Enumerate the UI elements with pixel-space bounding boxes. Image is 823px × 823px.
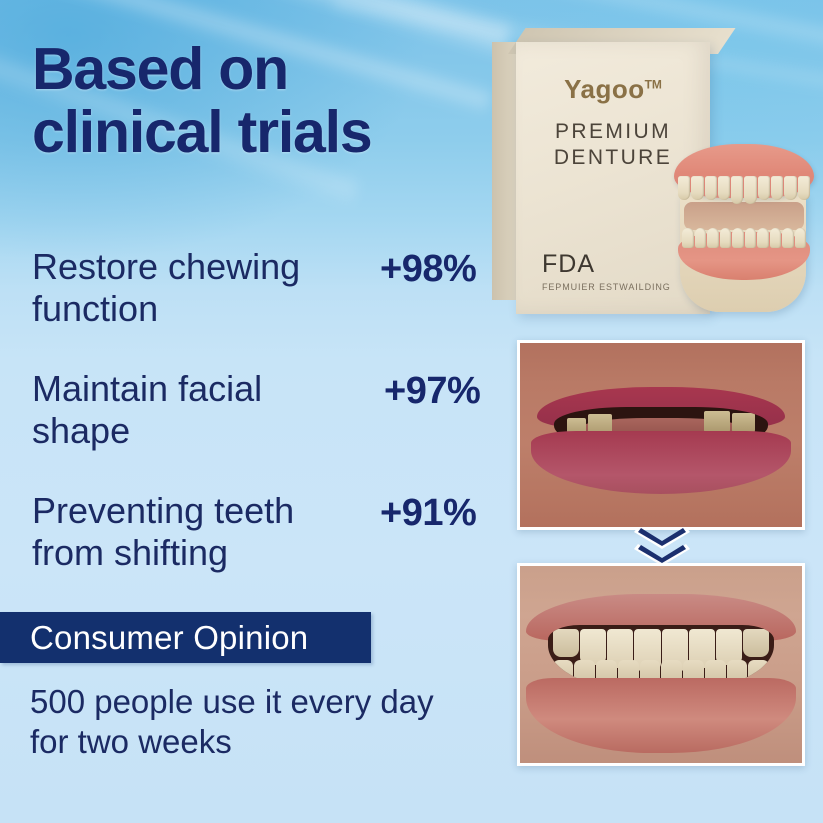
product-brand-text: Yagoo [564,74,645,104]
footnote-text: 500 people use it every day for two week… [30,682,490,763]
consumer-opinion-label: Consumer Opinion [30,619,308,657]
denture-lower-teeth [682,228,806,248]
before-photo [517,340,805,530]
before-photo-inner [520,343,802,527]
feature-label: Maintain facial shape [32,368,362,453]
certification-fine-print: FEPMUIER ESTWAILDING [542,282,671,292]
right-media-column: YagooTM PREMIUM DENTURE FDA FEPMUIER EST… [500,0,823,823]
feature-label: Preventing teeth from shifting [32,490,362,575]
product-brand-name: YagooTM [516,74,710,105]
feature-label-line-1: Preventing teeth [32,490,294,531]
feature-label-line-2: function [32,288,158,329]
feature-label-line-1: Restore chewing [32,246,300,287]
feature-label-line-2: from shifting [32,532,228,573]
feature-label: Restore chewing function [32,246,362,331]
footnote-line-2: for two weeks [30,722,490,762]
certification-label: FDA [542,250,595,279]
trademark-symbol: TM [645,77,662,91]
footnote-line-1: 500 people use it every day [30,682,490,722]
feature-label-line-1: Maintain facial [32,368,262,409]
denture-model-image [668,140,820,316]
headline-line-1: Based on [32,38,492,101]
feature-percent: +98% [380,248,476,291]
consumer-opinion-banner: Consumer Opinion [0,612,371,663]
feature-label-line-2: shape [32,410,130,451]
page-title: Based on clinical trials [32,38,492,163]
feature-percent: +97% [384,370,480,413]
left-content-column: Based on clinical trials Restore chewing… [0,0,512,823]
feature-percent: +91% [380,492,476,535]
denture-upper-teeth [678,176,810,204]
product-box-side-panel [492,42,518,300]
headline-line-2: clinical trials [32,101,492,164]
after-photo-inner [520,566,802,763]
denture-mouth-cavity [684,202,804,230]
after-photo [517,563,805,766]
